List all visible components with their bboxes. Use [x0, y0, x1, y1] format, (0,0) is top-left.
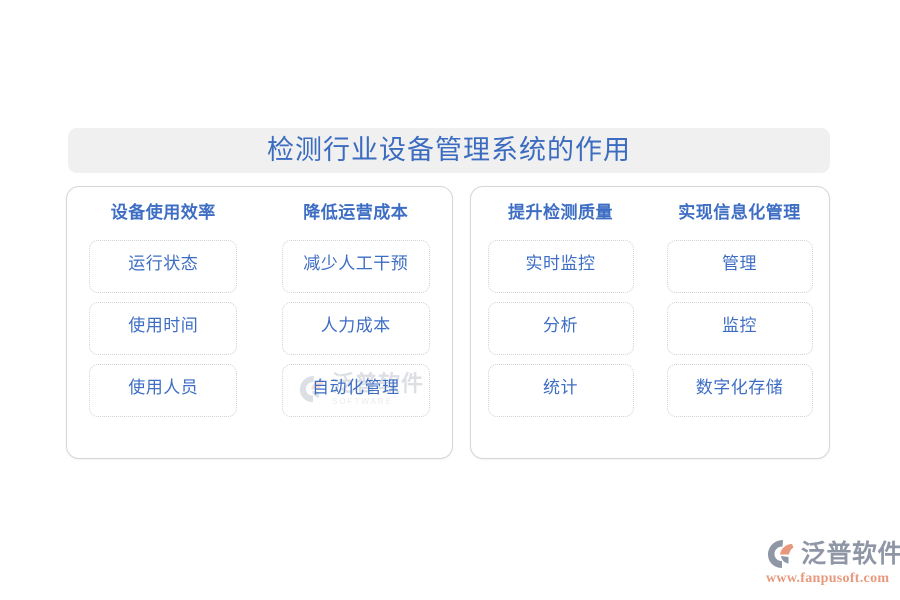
- item-box[interactable]: 数字化存储: [667, 364, 813, 417]
- item-box[interactable]: 使用人员: [89, 364, 237, 417]
- item-label: 人力成本: [321, 317, 391, 334]
- column-header: 提升检测质量: [508, 204, 613, 221]
- brand-logo: 泛普软件 www.fanpusoft.com: [766, 538, 892, 588]
- item-box[interactable]: 分析: [488, 302, 634, 355]
- item-box[interactable]: 人力成本: [282, 302, 430, 355]
- item-box[interactable]: 实时监控: [488, 240, 634, 293]
- item-label: 数字化存储: [696, 379, 784, 396]
- item-box[interactable]: 管理: [667, 240, 813, 293]
- brand-url: www.fanpusoft.com: [766, 572, 892, 586]
- brand-logo-row: 泛普软件: [766, 538, 892, 570]
- slide-canvas: 检测行业设备管理系统的作用 设备使用效率 运行状态 使用时间 使用人员 降低运营…: [0, 0, 900, 600]
- item-label: 管理: [722, 255, 757, 272]
- fanpu-logo-icon: [766, 538, 798, 570]
- left-card: 设备使用效率 运行状态 使用时间 使用人员 降低运营成本 减少人工干预 人力成本…: [66, 186, 453, 459]
- brand-name-cn: 泛普软件: [801, 542, 900, 567]
- item-label: 使用人员: [128, 379, 198, 396]
- item-box[interactable]: 使用时间: [89, 302, 237, 355]
- column-informatization-management: 实现信息化管理 管理 监控 数字化存储: [650, 187, 829, 458]
- column-header: 实现信息化管理: [678, 204, 801, 221]
- item-label: 监控: [722, 317, 757, 334]
- item-box[interactable]: 监控: [667, 302, 813, 355]
- item-label: 减少人工干预: [303, 255, 408, 272]
- column-improve-test-quality: 提升检测质量 实时监控 分析 统计: [471, 187, 650, 458]
- column-header: 设备使用效率: [111, 204, 216, 221]
- item-label: 运行状态: [128, 255, 198, 272]
- item-label: 实时监控: [526, 255, 596, 272]
- page-title: 检测行业设备管理系统的作用: [267, 137, 631, 164]
- item-label: 分析: [543, 317, 578, 334]
- item-box[interactable]: 运行状态: [89, 240, 237, 293]
- right-card: 提升检测质量 实时监控 分析 统计 实现信息化管理 管理 监控 数字化存储: [470, 186, 830, 459]
- item-box[interactable]: 统计: [488, 364, 634, 417]
- column-reduce-operating-cost: 降低运营成本 减少人工干预 人力成本 自动化管理: [260, 187, 453, 458]
- item-box[interactable]: 自动化管理: [282, 364, 430, 417]
- column-equipment-efficiency: 设备使用效率 运行状态 使用时间 使用人员: [67, 187, 260, 458]
- item-box[interactable]: 减少人工干预: [282, 240, 430, 293]
- title-banner: 检测行业设备管理系统的作用: [68, 128, 830, 173]
- column-header: 降低运营成本: [303, 204, 408, 221]
- item-label: 使用时间: [128, 317, 198, 334]
- item-label: 统计: [543, 379, 578, 396]
- item-label: 自动化管理: [312, 379, 400, 396]
